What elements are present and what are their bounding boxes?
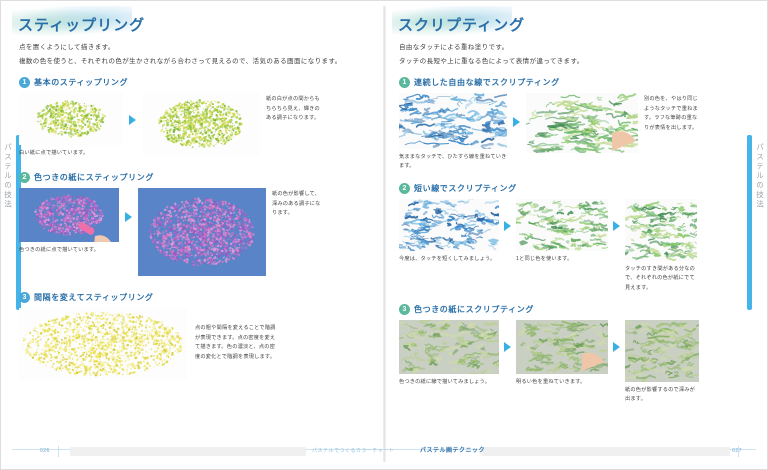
left-page: スティップリング 点を置くようにして描きます。 複数の色を使うと、それぞれの色が… — [12, 6, 384, 446]
stipple-dots-svg — [19, 308, 187, 380]
photo-stipple-blue-large — [138, 188, 266, 276]
photo-scribble-green — [526, 93, 638, 153]
right-page: スクリプティング 自由なタッチによる重ね塗りです。 タッチの長短や上に重なる色に… — [392, 6, 764, 446]
footer-decor-block-left — [70, 447, 306, 456]
stipple-dots-svg — [19, 188, 119, 242]
scribble-strokes-svg — [399, 93, 507, 149]
section-heading-2: 2 色つきの紙にスティップリング — [19, 172, 384, 183]
section-number-badge: 2 — [19, 172, 30, 183]
section-2-row: 色つきの紙に点で描いています。 紙の色が影響して、深みのある調子になります。 — [19, 188, 384, 276]
page-footer: 026 パステルでつくるカラーチャート パステル画テクニック 027 — [12, 444, 756, 462]
lead-line-1: 点を置くようにして描きます。 — [19, 42, 384, 54]
section-heading-label: 色つきの紙にスクリプティング — [414, 304, 534, 315]
section-1-row: 白い紙に点で描いています。 紙の白が点の間からもちらちら見え、輝きのある調子にな… — [19, 93, 384, 158]
photo-stipple-blue-small — [19, 188, 119, 242]
scribble-strokes-svg — [516, 199, 608, 251]
arrow-icon — [613, 342, 620, 352]
arrow-icon — [513, 117, 520, 127]
lead-line-2: 複数の色を使うと、それぞれの色が生かされながら合わさって見えるので、活気のある画… — [19, 56, 384, 68]
right-page-title-block: スクリプティング — [392, 6, 764, 40]
section-2-caption: 色つきの紙に点で描いています。 — [19, 246, 119, 255]
section-3-note: 紙の色が影響するので深みが出ます。 — [625, 386, 699, 405]
section-3-row: 点の粗や間隔を変えることで階調が表現できます。点の密度を変えて描きます。色の濃淡… — [19, 308, 384, 380]
section-1-note: 紙の白が点の間からもちらちら見え、輝きのある調子になります。 — [266, 95, 324, 124]
section-number-badge: 1 — [19, 77, 30, 88]
photo-scribble-blue — [399, 93, 507, 149]
section-3-caption2: 明るい色を重ねていきます。 — [516, 378, 608, 387]
photo-short-scribble-blue — [399, 199, 499, 251]
footer-decor-block-right — [482, 447, 730, 456]
section-1-caption: 白い紙に点で描いています。 — [19, 149, 123, 158]
arrow-icon — [504, 221, 511, 231]
section-2-note: タッチのすき間がある分なので、それぞれの色が紙にでて見えます。 — [625, 265, 697, 294]
section-heading-3: 3 色つきの紙にスクリプティング — [399, 304, 764, 315]
arrow-icon — [613, 221, 620, 231]
lead-line-2: タッチの長短や上に重なる色によって表情が違ってきます。 — [399, 56, 764, 68]
section-number-badge: 2 — [399, 183, 410, 194]
side-tab-label: パステルの技法 — [4, 143, 12, 210]
section-heading-label: 間隔を変えてスティップリング — [34, 292, 154, 303]
photo-stipple-white-large — [142, 93, 260, 155]
section-heading-label: 連続した自由な線でスクリプティング — [414, 77, 560, 88]
page-title: スティップリング — [12, 6, 384, 35]
section-heading-label: 色つきの紙にスティップリング — [34, 172, 154, 183]
arrow-icon — [129, 115, 136, 125]
section-heading-label: 短い線でスクリプティング — [414, 183, 517, 194]
section-heading-1: 1 連続した自由な線でスクリプティング — [399, 77, 764, 88]
scribble-strokes-svg — [399, 199, 499, 251]
stipple-dots-svg — [19, 93, 123, 145]
stipple-dots-svg — [142, 93, 260, 155]
scribble-strokes-svg — [399, 320, 499, 374]
photo-short-scribble-green — [516, 199, 608, 251]
section-heading-3: 3 間隔を変えてスティップリング — [19, 292, 384, 303]
section-3-row: 色つきの紙に線で描いてみましょう。 明るい色を重ねていきます。 — [399, 320, 764, 405]
scribble-strokes-svg — [516, 320, 608, 374]
photo-colored-paper-scribble-2 — [516, 320, 608, 374]
section-2-row: 今度は、タッチを短くしてみましょう。 1と同じ色を使います。 タッチのす — [399, 199, 764, 294]
section-heading-label: 基本のスティップリング — [34, 77, 128, 88]
arrow-icon — [125, 212, 132, 222]
section-heading-2: 2 短い線でスクリプティング — [399, 183, 764, 194]
photo-colored-paper-scribble-result — [625, 320, 699, 382]
page-number-right: 027 — [732, 444, 742, 458]
page-title: スクリプティング — [392, 6, 764, 35]
section-1-row: 気ままなタッチで、ひたすら線を重ねていきます。 別の色を、やはり同じようなタッチ… — [399, 93, 764, 171]
arrow-icon — [504, 342, 511, 352]
section-heading-1: 1 基本のスティップリング — [19, 77, 384, 88]
lead-line-1: 自由なタッチによる重ね塗りです。 — [399, 42, 764, 54]
section-3-caption: 色つきの紙に線で描いてみましょう。 — [399, 378, 499, 387]
book-spread: パステルの技法 パステルの技法 スティップリング 点を置くようにして描きます。 … — [0, 0, 768, 470]
stipple-dots-svg — [138, 188, 266, 276]
photo-stipple-spacing — [19, 308, 187, 380]
photo-colored-paper-scribble-1 — [399, 320, 499, 374]
section-1-caption: 気ままなタッチで、ひたすら線を重ねていきます。 — [399, 153, 507, 171]
page-number-left: 026 — [40, 444, 50, 458]
photo-short-scribble-result — [625, 199, 697, 261]
scribble-strokes-svg — [526, 93, 638, 153]
footer-chapter-sub: パステルでつくるカラーチャート — [312, 444, 394, 458]
section-2-caption2: 1と同じ色を使います。 — [516, 255, 608, 264]
footer-chapter-label: パステル画テクニック — [420, 444, 485, 458]
section-2-note: 紙の色が影響して、深みのある調子になります。 — [272, 190, 324, 219]
scribble-strokes-svg — [625, 199, 697, 261]
scribble-strokes-svg — [625, 320, 699, 382]
left-page-title-block: スティップリング — [12, 6, 384, 40]
footer-tick — [58, 446, 59, 457]
section-number-badge: 3 — [399, 304, 410, 315]
section-3-note: 点の粗や間隔を変えることで階調が表現できます。点の密度を変えて描きます。色の濃淡… — [195, 324, 279, 363]
section-number-badge: 1 — [399, 77, 410, 88]
photo-stipple-white-small — [19, 93, 123, 145]
section-2-caption: 今度は、タッチを短くしてみましょう。 — [399, 255, 499, 264]
section-number-badge: 3 — [19, 292, 30, 303]
section-1-note: 別の色を、やはり同じようなタッチで重ねます。ラフな筆跡の重なりが表情を出します。 — [644, 95, 698, 134]
